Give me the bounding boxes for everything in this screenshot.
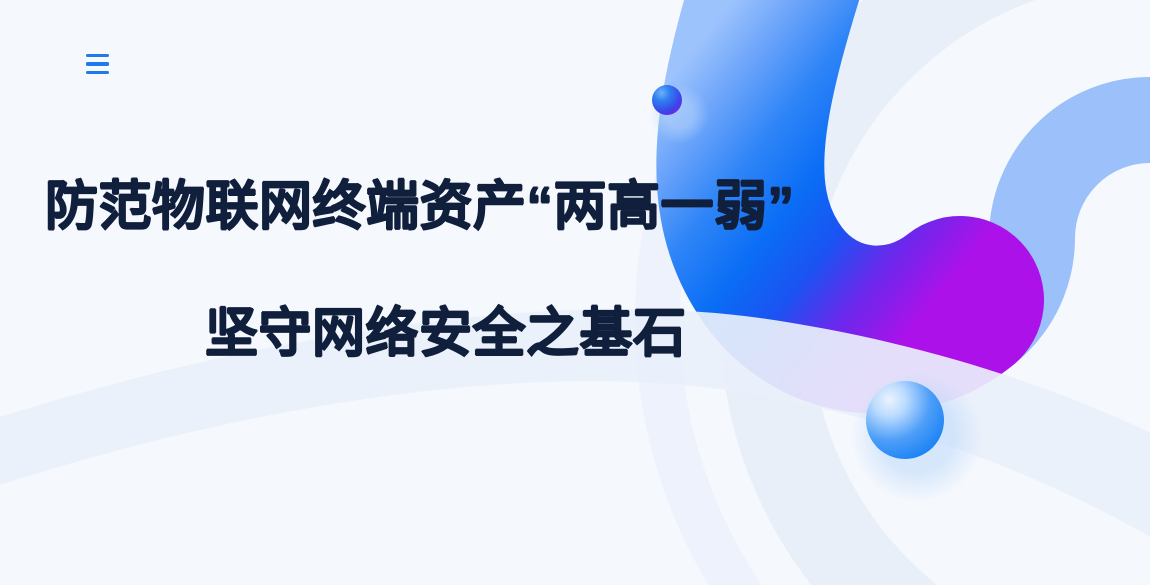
page-title: 防范物联网终端资产“两高一弱” 坚守网络安全之基石 [0, 178, 880, 362]
hamburger-bar-top [86, 54, 109, 57]
hamburger-bar-middle [86, 62, 109, 65]
large-blue-sphere [851, 370, 983, 502]
small-gradient-sphere [649, 84, 709, 144]
hamburger-bar-bottom [86, 71, 109, 74]
title-line-secondary: 坚守网络安全之基石 [0, 305, 880, 362]
slide-canvas: 防范物联网终端资产“两高一弱” 坚守网络安全之基石 [0, 0, 1150, 585]
title-line-primary: 防范物联网终端资产“两高一弱” [0, 178, 880, 235]
hamburger-menu-button[interactable] [80, 48, 116, 80]
